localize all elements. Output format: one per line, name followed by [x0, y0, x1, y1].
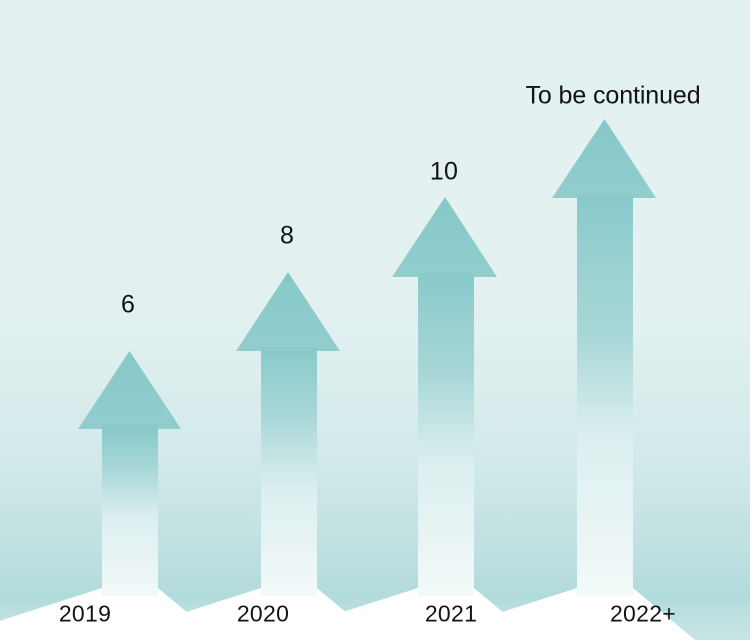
arrow-2019 [78, 351, 181, 596]
arrow-shaft-2019 [102, 420, 158, 596]
arrow-2021 [392, 197, 497, 596]
growth-arrow-chart: 6 8 10 To be continued 2019 2020 2021 20… [0, 0, 750, 640]
arrow-shaft-2020 [261, 343, 317, 596]
axis-label-2020: 2020 [237, 603, 289, 626]
arrow-shaft-top-2022 [577, 194, 633, 204]
arrow-shaft-2021 [418, 269, 474, 596]
arrow-head-2022 [552, 119, 656, 198]
arrow-head-2020 [236, 272, 340, 351]
axis-label-2019: 2019 [59, 603, 111, 626]
arrow-2022 [552, 119, 656, 596]
axis-label-2022: 2022+ [610, 603, 676, 626]
arrow-2020 [236, 272, 340, 596]
value-label-2019: 6 [121, 293, 135, 318]
value-label-2020: 8 [280, 224, 294, 249]
arrow-head-2021 [392, 197, 497, 277]
axis-label-2021: 2021 [425, 603, 477, 626]
arrow-shaft-top-2019 [102, 425, 158, 435]
arrow-head-2019 [78, 351, 181, 429]
arrow-shaft-top-2020 [261, 347, 317, 357]
arrow-shaft-2022 [577, 190, 633, 596]
value-label-2022-to-be-continued: To be continued [525, 84, 700, 109]
arrow-shaft-top-2021 [418, 273, 474, 283]
value-label-2021: 10 [430, 160, 458, 185]
